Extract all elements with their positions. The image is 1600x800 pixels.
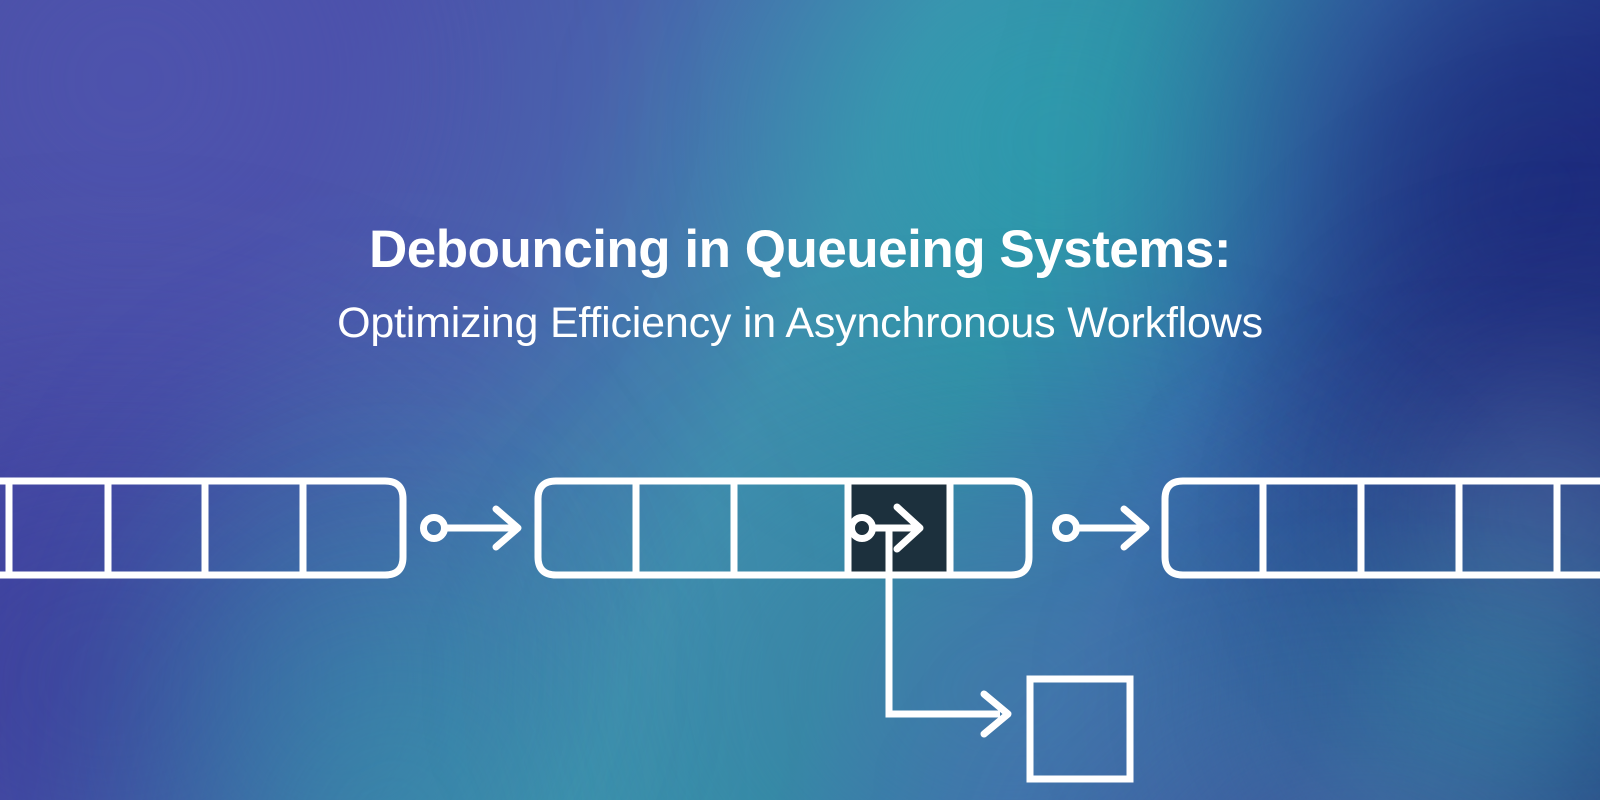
queue-outbound-outline xyxy=(1165,481,1600,575)
headline-block: Debouncing in Queueing Systems: Optimizi… xyxy=(0,222,1600,347)
page-subtitle: Optimizing Efficiency in Asynchronous Wo… xyxy=(0,300,1600,347)
banner-canvas: Debouncing in Queueing Systems: Optimizi… xyxy=(0,0,1600,800)
queue-outbound[interactable] xyxy=(1165,481,1600,575)
queue-debounce[interactable] xyxy=(538,481,1029,575)
page-title: Debouncing in Queueing Systems: xyxy=(0,222,1600,278)
connector-1 xyxy=(424,509,519,547)
queue-inbound[interactable] xyxy=(0,481,403,575)
worker-box-outline xyxy=(1030,679,1130,779)
connector-2-origin-dot xyxy=(1056,518,1077,539)
queue-pipeline-diagram xyxy=(0,0,1600,800)
worker-box[interactable] xyxy=(1030,679,1130,779)
queue-debounce-outline xyxy=(538,481,1029,575)
connector-2 xyxy=(1056,509,1147,547)
connector-1-origin-dot xyxy=(424,518,445,539)
